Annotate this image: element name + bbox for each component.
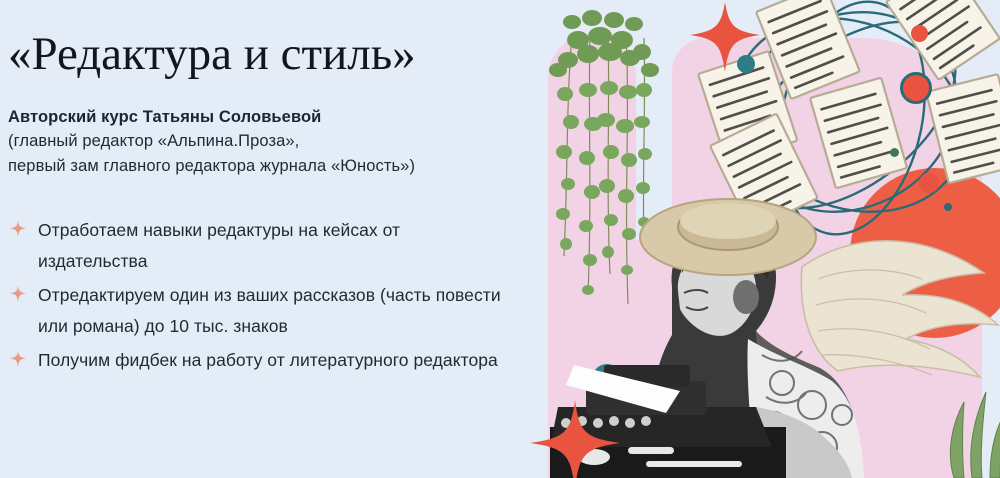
author-credential-line-1: (главный редактор «Альпина.Проза», [8,129,508,154]
straw-hat-image [640,199,816,275]
star-cross-icon [10,286,26,302]
angel-wing-image [801,241,998,377]
list-item: Получим фидбек на работу от литературног… [8,345,508,376]
list-item: Отработаем навыки редактуры на кейсах от… [8,215,508,277]
benefits-list: Отработаем навыки редактуры на кейсах от… [8,215,508,379]
text-column: «Редактура и стиль» Авторский курс Татья… [0,0,540,478]
list-item: Отредактируем один из ваших рассказов (ч… [8,280,508,342]
subtitle-block: Авторский курс Татьяны Соловьевой (главн… [8,105,508,179]
red-dot-small [911,25,928,42]
course-promo-banner: «Редактура и стиль» Авторский курс Татья… [0,0,1000,478]
red-star-top [690,2,760,72]
star-cross-icon [10,221,26,237]
green-dot-tiny [890,148,899,157]
star-cross-icon [10,351,26,367]
author-course-line: Авторский курс Татьяны Соловьевой [8,105,508,129]
collage-illustration [520,0,1000,478]
palm-leaves-image [938,378,1000,478]
red-star-bottom [530,400,620,478]
page-title: «Редактура и стиль» [8,26,416,82]
list-item-label: Получим фидбек на работу от литературног… [38,345,508,376]
list-item-label: Отредактируем один из ваших рассказов (ч… [38,280,508,342]
list-item-label: Отработаем навыки редактуры на кейсах от… [38,215,508,277]
red-dot-ringed [900,72,932,104]
author-credential-line-2: первый зам главного редактора журнала «Ю… [8,154,508,179]
